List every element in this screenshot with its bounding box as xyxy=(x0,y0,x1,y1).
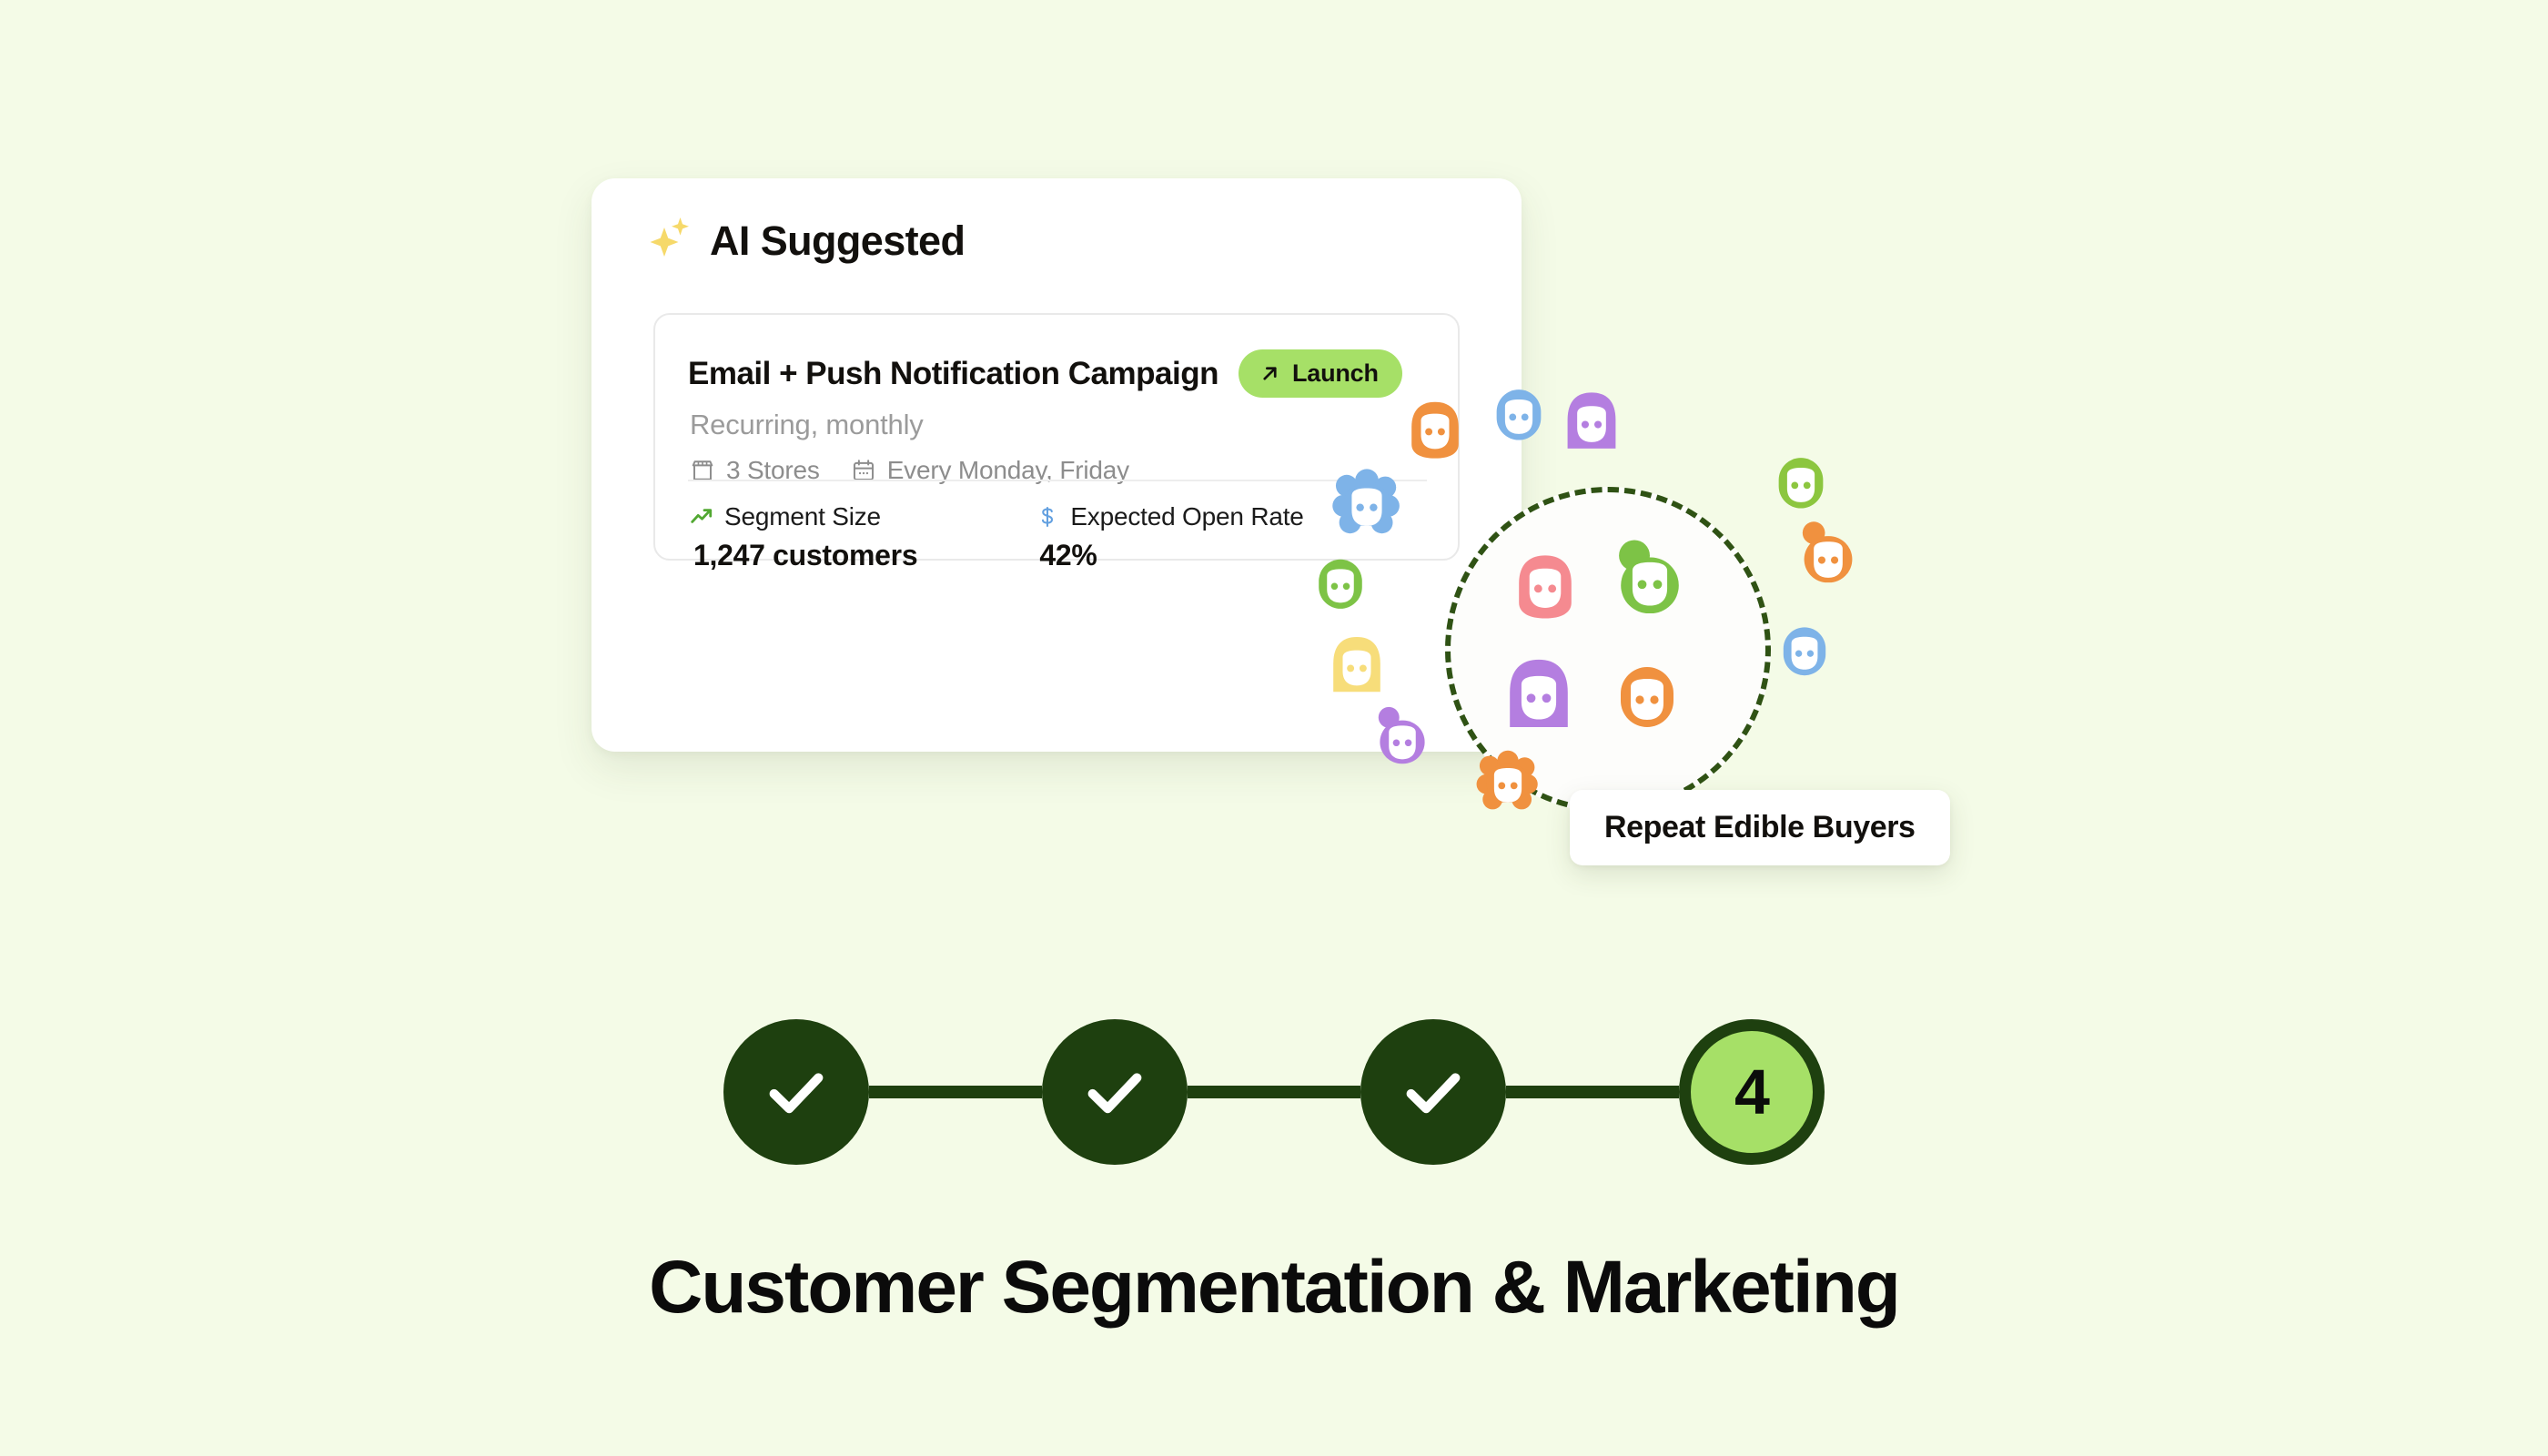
page-title: Customer Segmentation & Marketing xyxy=(0,1245,2548,1330)
step-1[interactable] xyxy=(723,1019,869,1165)
step-4[interactable]: 4 xyxy=(1679,1019,1825,1165)
stat-segment-size-label: Segment Size xyxy=(724,502,881,531)
stat-open-rate-head: Expected Open Rate xyxy=(1036,502,1303,531)
trending-up-icon xyxy=(690,505,713,529)
sparkle-icon xyxy=(646,215,693,262)
avatar-outside-blue-left[interactable] xyxy=(1325,462,1409,546)
step-connector-1 xyxy=(869,1086,1042,1098)
step-2[interactable] xyxy=(1042,1019,1188,1165)
step-3[interactable] xyxy=(1360,1019,1506,1165)
avatar-outside-orange-right[interactable] xyxy=(1788,517,1868,597)
avatar-outside-blue-right[interactable] xyxy=(1768,614,1841,687)
ai-card-title: AI Suggested xyxy=(710,220,965,261)
stat-segment-size-value: 1,247 customers xyxy=(690,539,917,572)
check-icon xyxy=(1398,1057,1469,1127)
progress-stepper: 4 xyxy=(0,1019,2548,1165)
segment-cluster: Repeat Edible Buyers xyxy=(1329,382,2111,946)
stat-open-rate-label: Expected Open Rate xyxy=(1070,502,1303,531)
step-4-label: 4 xyxy=(1734,1060,1769,1124)
stat-open-rate: Expected Open Rate 42% xyxy=(1036,502,1303,572)
avatar-inside-purple[interactable] xyxy=(1491,646,1587,743)
stat-open-rate-value: 42% xyxy=(1036,539,1303,572)
stat-segment-size-head: Segment Size xyxy=(690,502,917,531)
stat-segment-size: Segment Size 1,247 customers xyxy=(690,502,917,572)
avatar-outside-green-right[interactable] xyxy=(1763,444,1839,521)
check-icon xyxy=(761,1057,832,1127)
avatar-outside-yellow-left[interactable] xyxy=(1318,626,1396,704)
arrow-up-right-icon xyxy=(1259,362,1281,385)
avatar-outside-orange-bot[interactable] xyxy=(1470,744,1546,821)
avatar-outside-purple-top[interactable] xyxy=(1552,381,1632,461)
page-root: AI Suggested Email + Push Notification C… xyxy=(0,0,2548,1456)
campaign-divider xyxy=(688,480,1427,481)
campaign-name: Email + Push Notification Campaign xyxy=(688,356,1218,392)
avatar-inside-pink[interactable] xyxy=(1501,541,1589,629)
avatar-inside-orange[interactable] xyxy=(1602,651,1693,742)
avatar-inside-green[interactable] xyxy=(1602,532,1698,629)
avatar-outside-blue-top[interactable] xyxy=(1481,376,1557,452)
avatar-outside-green-left[interactable] xyxy=(1303,546,1378,621)
ai-card-header: AI Suggested xyxy=(591,178,1522,262)
segment-tooltip: Repeat Edible Buyers xyxy=(1570,790,1950,865)
step-connector-3 xyxy=(1506,1086,1679,1098)
dollar-icon xyxy=(1036,505,1059,529)
step-connector-2 xyxy=(1188,1086,1360,1098)
avatar-outside-orange-top[interactable] xyxy=(1396,389,1474,468)
campaign-stats: Segment Size 1,247 customers Expected Op… xyxy=(690,502,1304,572)
avatar-outside-purple-bot[interactable] xyxy=(1365,703,1440,777)
check-icon xyxy=(1079,1057,1150,1127)
